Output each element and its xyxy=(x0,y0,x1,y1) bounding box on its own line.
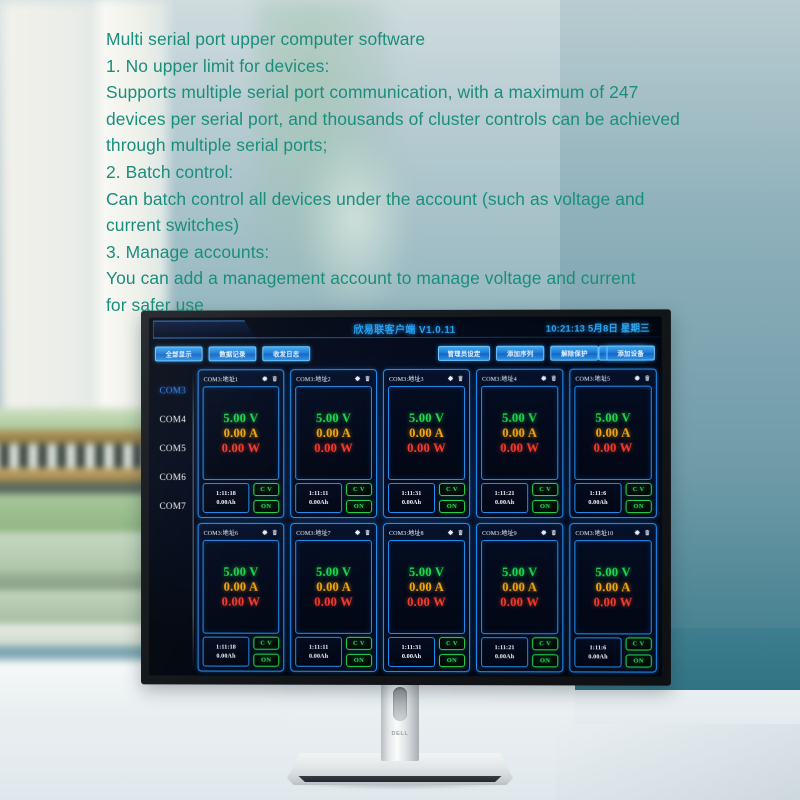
copy-line-9: You can add a management account to mana… xyxy=(106,265,766,292)
copy-line-8: 3. Manage accounts: xyxy=(106,239,766,266)
tx-rx-log-button[interactable]: 收发日志 xyxy=(262,346,310,361)
mode-badge-cv[interactable]: C V xyxy=(626,637,652,650)
trash-icon[interactable] xyxy=(550,529,557,536)
device-meter: 1:11:310.00Ah xyxy=(388,483,435,513)
current-value: 0.00 A xyxy=(596,425,631,440)
capacity-value: 0.00Ah xyxy=(402,653,421,660)
voltage-value: 5.00 V xyxy=(316,564,351,579)
mode-badge-cv[interactable]: C V xyxy=(346,483,372,496)
add-sequence-button[interactable]: 添加序列 xyxy=(496,346,544,361)
device-meter: 1:11:60.00Ah xyxy=(574,637,621,667)
device-switches: C VON xyxy=(532,637,558,667)
device-card[interactable]: COM3:地址35.00 V0.00 A0.00 W1:11:310.00AhC… xyxy=(383,369,470,518)
capacity-value: 0.00Ah xyxy=(588,499,607,506)
voltage-value: 5.00 V xyxy=(223,564,258,579)
mode-badge-cv[interactable]: C V xyxy=(532,483,558,496)
gear-icon[interactable] xyxy=(634,375,641,382)
device-footer: 1:11:60.00AhC VON xyxy=(574,637,651,667)
device-card[interactable]: COM3:地址25.00 V0.00 A0.00 W1:11:110.00AhC… xyxy=(290,369,377,518)
device-switches: C VON xyxy=(532,483,558,513)
device-meter: 1:11:180.00Ah xyxy=(203,637,250,667)
admin-settings-button[interactable]: 管理员设定 xyxy=(438,346,490,361)
monitor-bezel: 欣易联客户端 V1.0.11 10:21:13 5月8日 星期三 全部显示 数据… xyxy=(141,309,671,685)
copy-line-3: devices per serial port, and thousands o… xyxy=(106,106,766,133)
current-value: 0.00 A xyxy=(409,580,444,595)
power-toggle-on[interactable]: ON xyxy=(439,500,465,513)
add-device-button[interactable]: 添加设备 xyxy=(607,345,655,360)
runtime-value: 1:11:18 xyxy=(216,644,236,651)
voltage-value: 5.00 V xyxy=(409,410,444,425)
device-footer: 1:11:310.00AhC VON xyxy=(388,637,465,667)
device-switches: C VON xyxy=(626,637,652,667)
voltage-value: 5.00 V xyxy=(595,565,630,580)
mode-badge-cv[interactable]: C V xyxy=(439,483,465,496)
device-footer: 1:11:310.00AhC VON xyxy=(388,483,465,513)
trash-icon[interactable] xyxy=(644,375,651,382)
device-card[interactable]: COM3:地址65.00 V0.00 A0.00 W1:11:180.00AhC… xyxy=(198,523,285,672)
device-switches: C VON xyxy=(439,637,465,667)
gear-icon[interactable] xyxy=(447,375,454,382)
mode-badge-cv[interactable]: C V xyxy=(253,483,279,496)
device-card[interactable]: COM3:地址45.00 V0.00 A0.00 W1:11:210.00AhC… xyxy=(476,369,563,518)
device-card[interactable]: COM3:地址95.00 V0.00 A0.00 W1:11:210.00AhC… xyxy=(476,523,563,672)
desk-edge xyxy=(556,724,800,800)
gear-icon[interactable] xyxy=(634,529,641,536)
device-card-header: COM3:地址9 xyxy=(481,527,558,538)
copy-line-2: Supports multiple serial port communicat… xyxy=(106,79,766,106)
power-toggle-on[interactable]: ON xyxy=(439,654,465,667)
device-card-header: COM3:地址6 xyxy=(203,527,280,538)
mode-badge-cv[interactable]: C V xyxy=(532,637,558,650)
trash-icon[interactable] xyxy=(644,529,651,536)
app-screen: 欣易联客户端 V1.0.11 10:21:13 5月8日 星期三 全部显示 数据… xyxy=(149,316,662,676)
power-value: 0.00 W xyxy=(407,595,446,610)
runtime-value: 1:11:6 xyxy=(590,490,607,497)
monitor: 欣易联客户端 V1.0.11 10:21:13 5月8日 星期三 全部显示 数据… xyxy=(140,310,670,685)
current-value: 0.00 A xyxy=(409,425,444,440)
stand-cable-slot xyxy=(393,687,407,721)
power-toggle-on[interactable]: ON xyxy=(346,654,372,667)
device-footer: 1:11:180.00AhC VON xyxy=(203,483,280,513)
com-port-item-com3[interactable]: COM3 xyxy=(153,375,193,404)
titlebar-underline xyxy=(153,336,662,338)
trash-icon[interactable] xyxy=(457,375,464,382)
capacity-value: 0.00Ah xyxy=(495,499,514,506)
device-card-grid: COM3:地址15.00 V0.00 A0.00 W1:11:180.00AhC… xyxy=(198,369,657,673)
capacity-value: 0.00Ah xyxy=(216,499,235,506)
device-card[interactable]: COM3:地址15.00 V0.00 A0.00 W1:11:180.00AhC… xyxy=(198,369,285,518)
device-title: COM3:地址5 xyxy=(575,374,630,383)
device-footer: 1:11:210.00AhC VON xyxy=(481,483,558,513)
copy-line-7: current switches) xyxy=(106,212,766,239)
trash-icon[interactable] xyxy=(271,529,278,536)
show-all-button[interactable]: 全部显示 xyxy=(155,346,203,361)
power-toggle-on[interactable]: ON xyxy=(626,654,652,667)
power-toggle-on[interactable]: ON xyxy=(253,654,279,667)
runtime-value: 1:11:11 xyxy=(309,490,329,497)
power-value: 0.00 W xyxy=(594,595,633,610)
voltage-value: 5.00 V xyxy=(409,565,444,580)
device-footer: 1:11:210.00AhC VON xyxy=(481,637,558,667)
com-port-item-com7[interactable]: COM7 xyxy=(153,491,193,520)
copy-line-1: 1. No upper limit for devices: xyxy=(106,53,766,80)
trash-icon[interactable] xyxy=(457,529,464,536)
device-meter: 1:11:110.00Ah xyxy=(295,637,342,667)
marketing-copy: Multi serial port upper computer softwar… xyxy=(106,26,766,319)
device-card-header: COM3:地址1 xyxy=(203,373,280,384)
runtime-value: 1:11:31 xyxy=(402,490,422,497)
device-switches: C VON xyxy=(253,637,279,667)
trash-icon[interactable] xyxy=(364,529,371,536)
current-value: 0.00 A xyxy=(502,425,537,440)
trash-icon[interactable] xyxy=(550,375,557,382)
current-value: 0.00 A xyxy=(502,580,537,595)
device-title: COM3:地址1 xyxy=(204,374,259,383)
device-title: COM3:地址6 xyxy=(204,528,259,537)
capacity-value: 0.00Ah xyxy=(309,499,328,506)
runtime-value: 1:11:31 xyxy=(402,644,422,651)
app-toolbar: 全部显示 数据记录 收发日志 管理员设定 添加序列 解除保护 批量修改 添加设备 xyxy=(149,342,662,365)
gear-icon[interactable] xyxy=(447,529,454,536)
power-value: 0.00 W xyxy=(314,441,353,456)
app-titlebar: 欣易联客户端 V1.0.11 10:21:13 5月8日 星期三 xyxy=(149,316,662,341)
copy-line-10: for safer use xyxy=(106,292,766,319)
current-value: 0.00 A xyxy=(596,580,631,595)
device-meter: 1:11:180.00Ah xyxy=(203,483,250,513)
device-meter: 1:11:210.00Ah xyxy=(481,483,528,513)
device-switches: C VON xyxy=(346,483,372,513)
device-meter: 1:11:310.00Ah xyxy=(388,637,435,667)
capacity-value: 0.00Ah xyxy=(402,499,421,506)
gear-icon[interactable] xyxy=(540,529,547,536)
power-value: 0.00 W xyxy=(314,594,353,609)
app-clock: 10:21:13 5月8日 星期三 xyxy=(546,320,650,334)
gear-icon[interactable] xyxy=(540,375,547,382)
device-card[interactable]: COM3:地址75.00 V0.00 A0.00 W1:11:110.00AhC… xyxy=(290,523,377,672)
device-switches: C VON xyxy=(626,483,652,513)
app-workspace: COM3 COM4 COM5 COM6 COM7 COM3:地址15.00 V0… xyxy=(149,367,662,677)
copy-line-5: 2. Batch control: xyxy=(106,159,766,186)
device-card[interactable]: COM3:地址55.00 V0.00 A0.00 W1:11:60.00AhC … xyxy=(569,369,656,519)
capacity-value: 0.00Ah xyxy=(309,653,328,660)
release-protection-button[interactable]: 解除保护 xyxy=(550,346,598,361)
mode-badge-cv[interactable]: C V xyxy=(439,637,465,650)
device-card-header: COM3:地址3 xyxy=(388,373,465,384)
mode-badge-cv[interactable]: C V xyxy=(253,637,279,650)
power-value: 0.00 W xyxy=(500,440,539,455)
device-footer: 1:11:110.00AhC VON xyxy=(295,637,372,667)
voltage-value: 5.00 V xyxy=(595,410,630,425)
power-value: 0.00 W xyxy=(222,441,261,456)
com-port-item-com6[interactable]: COM6 xyxy=(153,462,193,491)
gear-icon[interactable] xyxy=(261,375,268,382)
runtime-value: 1:11:21 xyxy=(495,490,515,497)
device-title: COM3:地址10 xyxy=(575,528,630,537)
capacity-value: 0.00Ah xyxy=(495,653,514,660)
device-card[interactable]: COM3:地址85.00 V0.00 A0.00 W1:11:310.00AhC… xyxy=(383,523,470,672)
power-value: 0.00 W xyxy=(407,440,446,455)
current-value: 0.00 A xyxy=(316,579,351,594)
power-value: 0.00 W xyxy=(594,440,633,455)
device-meter: 1:11:210.00Ah xyxy=(481,637,528,667)
dell-logo: DELL xyxy=(381,731,419,737)
runtime-value: 1:11:6 xyxy=(590,644,607,651)
device-title: COM3:地址3 xyxy=(389,374,444,383)
com-port-item-com5[interactable]: COM5 xyxy=(153,433,193,462)
gear-icon[interactable] xyxy=(354,529,361,536)
trash-icon[interactable] xyxy=(271,375,278,382)
copy-line-4: through multiple serial ports; xyxy=(106,132,766,159)
capacity-value: 0.00Ah xyxy=(588,653,607,660)
monitor-stand-neck: DELL xyxy=(381,683,419,761)
device-card-header: COM3:地址4 xyxy=(481,373,558,384)
device-card-header: COM3:地址2 xyxy=(295,373,372,384)
device-footer: 1:11:60.00AhC VON xyxy=(574,483,651,513)
device-card-header: COM3:地址5 xyxy=(574,373,651,384)
power-toggle-on[interactable]: ON xyxy=(626,500,652,513)
book-stack xyxy=(0,408,150,658)
device-title: COM3:地址7 xyxy=(296,528,351,537)
voltage-value: 5.00 V xyxy=(502,565,537,580)
device-title: COM3:地址8 xyxy=(389,528,444,537)
gear-icon[interactable] xyxy=(261,529,268,536)
power-toggle-on[interactable]: ON xyxy=(253,500,279,513)
device-footer: 1:11:180.00AhC VON xyxy=(203,637,280,667)
data-record-button[interactable]: 数据记录 xyxy=(209,346,257,361)
device-title: COM3:地址9 xyxy=(482,528,537,537)
power-value: 0.00 W xyxy=(500,595,539,610)
device-card-header: COM3:地址10 xyxy=(574,527,651,538)
device-footer: 1:11:110.00AhC VON xyxy=(295,483,372,513)
power-value: 0.00 W xyxy=(222,594,261,609)
voltage-value: 5.00 V xyxy=(316,411,351,426)
capacity-value: 0.00Ah xyxy=(216,653,235,660)
device-switches: C VON xyxy=(439,483,465,513)
device-meter: 1:11:110.00Ah xyxy=(295,483,342,513)
device-readout: 5.00 V0.00 A0.00 W xyxy=(295,386,372,480)
current-value: 0.00 A xyxy=(224,579,259,594)
stand-base-underside xyxy=(292,776,508,782)
runtime-value: 1:11:18 xyxy=(216,490,236,497)
runtime-value: 1:11:21 xyxy=(495,644,515,651)
monitor-panel: 欣易联客户端 V1.0.11 10:21:13 5月8日 星期三 全部显示 数据… xyxy=(149,316,662,676)
device-readout: 5.00 V0.00 A0.00 W xyxy=(295,540,372,634)
sidebar-divider xyxy=(193,373,194,667)
device-readout: 5.00 V0.00 A0.00 W xyxy=(388,386,465,480)
device-readout: 5.00 V0.00 A0.00 W xyxy=(388,540,465,634)
trash-icon[interactable] xyxy=(364,375,371,382)
power-toggle-on[interactable]: ON xyxy=(346,500,372,513)
copy-line-0: Multi serial port upper computer softwar… xyxy=(106,26,766,53)
power-toggle-on[interactable]: ON xyxy=(532,654,558,667)
device-title: COM3:地址2 xyxy=(296,374,351,383)
runtime-value: 1:11:11 xyxy=(309,644,329,651)
toolbar-left-group: 全部显示 数据记录 收发日志 xyxy=(149,342,662,343)
voltage-value: 5.00 V xyxy=(502,410,537,425)
device-readout: 5.00 V0.00 A0.00 W xyxy=(574,540,651,634)
device-title: COM3:地址4 xyxy=(482,374,537,383)
device-readout: 5.00 V0.00 A0.00 W xyxy=(203,386,280,480)
device-readout: 5.00 V0.00 A0.00 W xyxy=(481,386,558,480)
current-value: 0.00 A xyxy=(316,426,351,441)
toolbar-right-group: 管理员设定 添加序列 解除保护 批量修改 添加设备 xyxy=(149,342,662,343)
gear-icon[interactable] xyxy=(354,375,361,382)
device-readout: 5.00 V0.00 A0.00 W xyxy=(203,540,280,634)
mode-badge-cv[interactable]: C V xyxy=(346,637,372,650)
mode-badge-cv[interactable]: C V xyxy=(626,483,652,496)
device-switches: C VON xyxy=(253,483,279,513)
device-switches: C VON xyxy=(346,637,372,667)
device-card-header: COM3:地址8 xyxy=(388,527,465,538)
device-readout: 5.00 V0.00 A0.00 W xyxy=(481,540,558,634)
device-meter: 1:11:60.00Ah xyxy=(574,483,621,513)
com-port-item-com4[interactable]: COM4 xyxy=(153,404,193,433)
device-card[interactable]: COM3:地址105.00 V0.00 A0.00 W1:11:60.00AhC… xyxy=(569,523,656,673)
copy-line-6: Can batch control all devices under the … xyxy=(106,186,766,213)
current-value: 0.00 A xyxy=(224,426,259,441)
power-toggle-on[interactable]: ON xyxy=(532,500,558,513)
device-readout: 5.00 V0.00 A0.00 W xyxy=(574,386,651,480)
voltage-value: 5.00 V xyxy=(223,411,258,426)
com-port-list: COM3 COM4 COM5 COM6 COM7 xyxy=(153,371,193,669)
device-card-header: COM3:地址7 xyxy=(295,527,372,538)
